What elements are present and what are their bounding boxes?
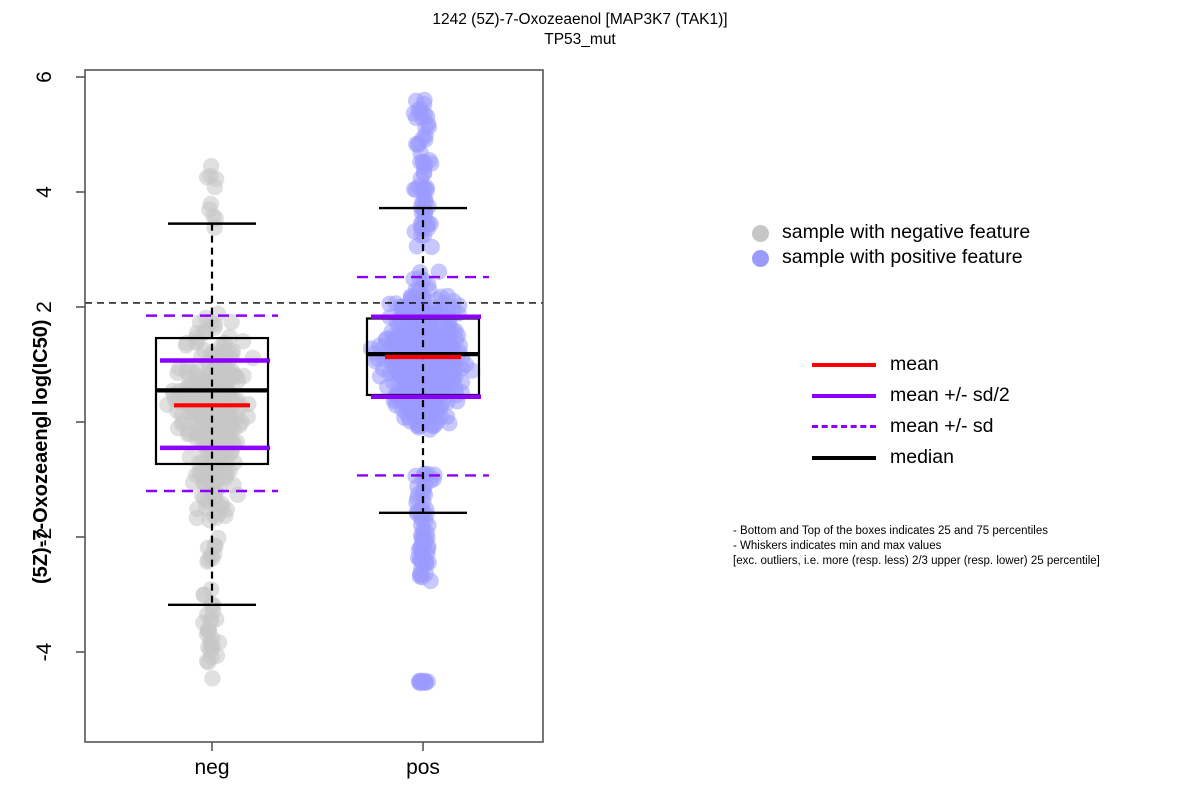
y-tick-label--2: -2 [32, 515, 58, 559]
legend-line-label: median [890, 446, 954, 469]
y-tick-label-6: 6 [32, 55, 58, 99]
legend-point-swatch [752, 225, 769, 242]
legend-line-swatch [812, 394, 876, 398]
y-tick-label--4: -4 [32, 630, 58, 674]
legend-line-label: mean +/- sd [890, 415, 994, 438]
panel-frame [85, 70, 543, 742]
y-tick-label-2: 2 [32, 285, 58, 329]
x-tick-label-pos: pos [363, 756, 483, 780]
plot-area [0, 0, 1200, 800]
y-tick-label-4: 4 [32, 170, 58, 214]
legend-line-swatch [812, 456, 876, 460]
legend-line-label: mean +/- sd/2 [890, 384, 1010, 407]
y-tick-label-0: 0 [32, 400, 58, 444]
legend-line-swatch [812, 363, 876, 367]
legend-point-label: sample with negative feature [782, 221, 1030, 244]
x-tick-label-neg: neg [152, 756, 272, 780]
legend-line-swatch [812, 425, 876, 428]
legend-line-label: mean [890, 353, 939, 376]
legend-point-label: sample with positive feature [782, 246, 1023, 269]
footnote-text: - Bottom and Top of the boxes indicates … [733, 524, 1153, 569]
legend-point-swatch [752, 250, 769, 267]
chart-canvas: 1242 (5Z)-7-Oxozeaenol [MAP3K7 (TAK1)] T… [0, 0, 1200, 800]
